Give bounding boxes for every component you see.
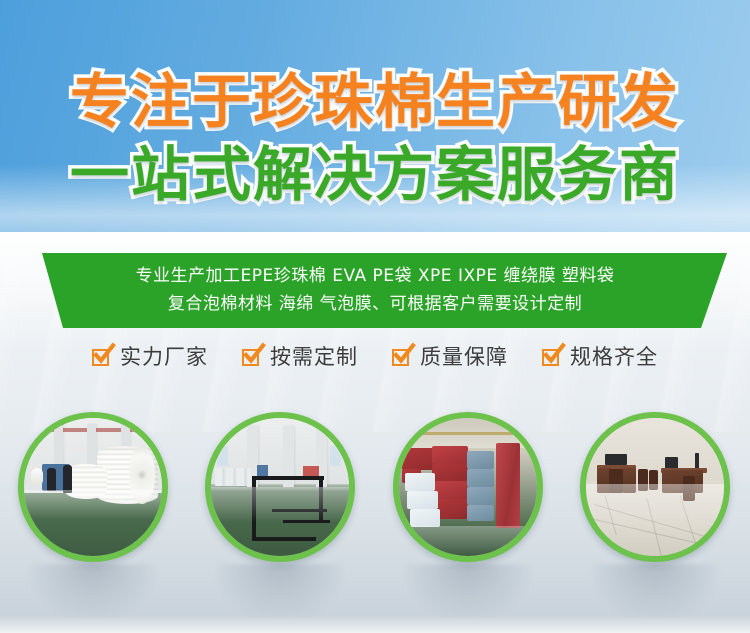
circle-frame xyxy=(205,412,355,562)
feature-label-2: 质量保障 xyxy=(420,341,508,371)
photo-circle-warehouse-rack xyxy=(205,412,355,562)
photo-circle-office-interior xyxy=(580,412,730,562)
checkbox-checked-icon xyxy=(92,347,111,366)
photo-warehouse-rack xyxy=(211,418,349,556)
promotional-banner: 专注于珍珠棉生产研发 一站式解决方案服务商 专业生产加工EPE珍珠棉 EVA P… xyxy=(0,0,750,633)
photo-stacked-foam-products xyxy=(399,418,537,556)
product-band-line-1: 专业生产加工EPE珍珠棉 EVA PE袋 XPE IXPE 缠绕膜 塑料袋 xyxy=(0,262,750,290)
feature-badges: 实力厂家 按需定制 质量保障 规格齐全 xyxy=(0,341,750,371)
circle-frame xyxy=(393,412,543,562)
circle-reflection xyxy=(30,564,156,616)
photo-factory-foam-rolls xyxy=(24,418,162,556)
feature-badge-2: 质量保障 xyxy=(392,341,508,371)
circle-frame xyxy=(18,412,168,562)
circle-reflection xyxy=(217,564,343,616)
headline-line-1: 专注于珍珠棉生产研发 xyxy=(0,72,750,131)
photo-circle-stacked-foam-products xyxy=(393,412,543,562)
product-list-band: 专业生产加工EPE珍珠棉 EVA PE袋 XPE IXPE 缠绕膜 塑料袋 复合… xyxy=(0,253,750,328)
checkbox-checked-icon xyxy=(392,347,411,366)
checkbox-checked-icon xyxy=(542,347,561,366)
photo-circle-row xyxy=(0,412,750,572)
photo-circle-factory-foam-rolls xyxy=(18,412,168,562)
product-list-text: 专业生产加工EPE珍珠棉 EVA PE袋 XPE IXPE 缠绕膜 塑料袋 复合… xyxy=(0,262,750,318)
headline-line-2: 一站式解决方案服务商 xyxy=(0,145,750,204)
circle-reflection xyxy=(592,564,718,616)
headline-block: 专注于珍珠棉生产研发 一站式解决方案服务商 xyxy=(0,72,750,204)
feature-label-1: 按需定制 xyxy=(270,341,358,371)
feature-badge-0: 实力厂家 xyxy=(92,341,208,371)
circle-frame xyxy=(580,412,730,562)
feature-label-0: 实力厂家 xyxy=(120,341,208,371)
circle-reflection xyxy=(405,564,531,616)
product-band-line-2: 复合泡棉材料 海绵 气泡膜、可根据客户需要设计定制 xyxy=(0,290,750,318)
feature-badge-3: 规格齐全 xyxy=(542,341,658,371)
feature-label-3: 规格齐全 xyxy=(570,341,658,371)
photo-office-interior xyxy=(586,418,724,556)
checkbox-checked-icon xyxy=(242,347,261,366)
feature-badge-1: 按需定制 xyxy=(242,341,358,371)
